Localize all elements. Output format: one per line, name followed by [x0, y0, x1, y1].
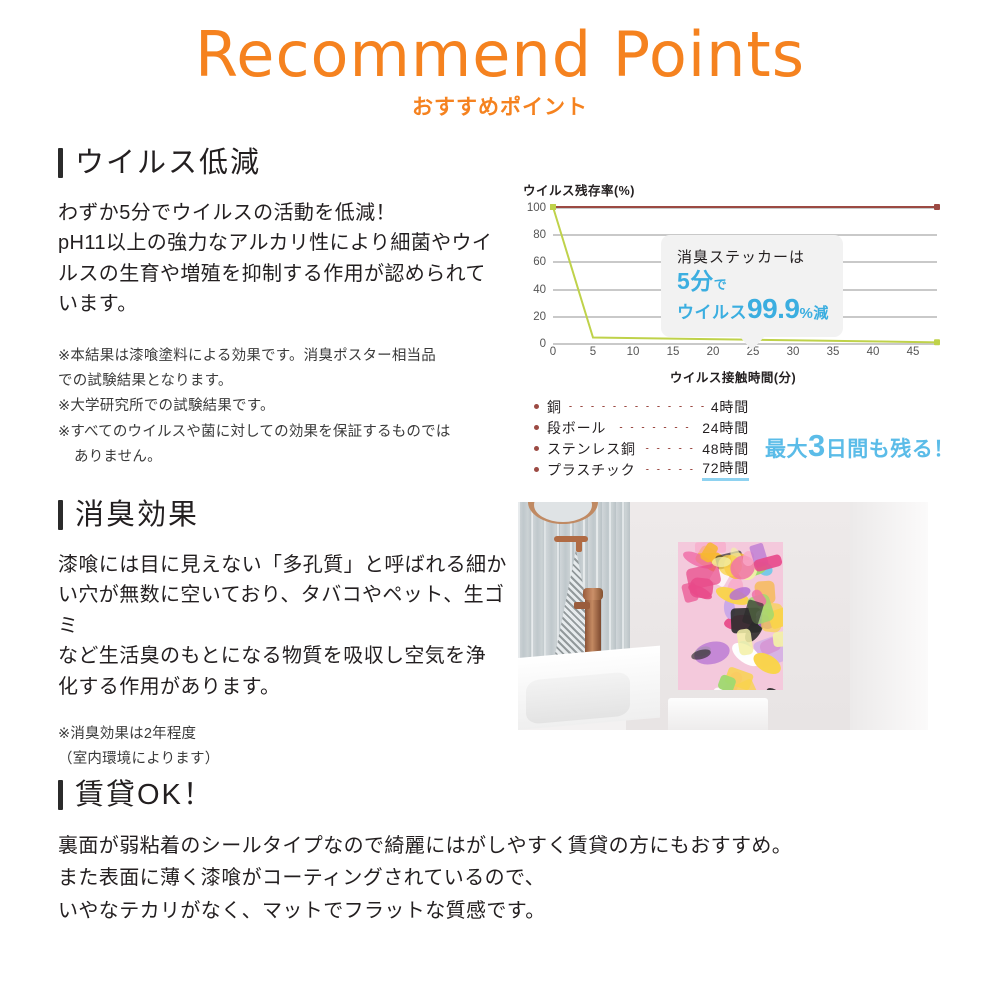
body-line: 裏面が弱粘着のシールタイプなので綺麗にはがしやすく賃貸の方にもおすすめ。 — [58, 830, 858, 862]
body-line: また表面に薄く漆喰がコーティングされているので、 — [58, 862, 858, 894]
section-notes: ※消臭効果は2年程度 （室内環境によります） — [58, 722, 518, 773]
body-line: い穴が無数に空いており、タバコやペット、生ゴミ — [58, 580, 518, 641]
chart-x-tick-label: 15 — [667, 346, 680, 358]
legend-dot-leader — [642, 467, 697, 472]
chart-x-tick-label: 40 — [867, 346, 880, 358]
chart-x-tick-label: 30 — [787, 346, 800, 358]
photo-towel-hook — [554, 536, 588, 542]
legend-dot-leader — [568, 404, 705, 409]
chart-data-point — [934, 204, 940, 210]
page-title: Recommend Points — [0, 22, 1000, 87]
max-days-prefix: 最大 — [765, 438, 808, 461]
section-title: 消臭効果 — [75, 501, 199, 530]
section-notes: ※本結果は漆喰塗料による効果です。消臭ポスター相当品 での試験結果となります。 … — [58, 344, 508, 471]
legend-duration-value: 48時間 — [702, 439, 749, 459]
note-line: ※すべてのウイルスや菌に対しての効果を保証するものでは — [58, 420, 508, 445]
callout-minutes: 5分 — [677, 268, 714, 294]
chart-x-tick-label: 10 — [627, 346, 640, 358]
photo-sticker-poster — [678, 542, 783, 690]
heading-bar-icon — [58, 780, 63, 810]
legend-bullet-icon — [534, 404, 539, 409]
section-heading: 賃貸OK！ — [58, 780, 858, 810]
chart-plot-area: 020406080100 消臭ステッカーは 5分で ウイルス99.9%減 — [553, 207, 937, 343]
callout-line-3: ウイルス99.9%減 — [677, 294, 829, 325]
body-line: います。 — [58, 289, 508, 319]
max-days-suffix: 日間も残る！ — [826, 438, 955, 461]
body-line: いやなテカリがなく、マットでフラットな質感です。 — [58, 895, 858, 927]
body-line: など生活臭のもとになる物質を吸収し空気を浄 — [58, 641, 518, 671]
section-rental-ok: 賃貸OK！ 裏面が弱粘着のシールタイプなので綺麗にはがしやすく賃貸の方にもおすす… — [58, 780, 858, 927]
note-line: ※消臭効果は2年程度 — [58, 722, 518, 747]
surface-survival-legend: 銅4時間段ボール24時間ステンレス銅48時間プラスチック72時間 — [534, 396, 749, 480]
chart-y-tick-label: 100 — [527, 202, 553, 214]
legend-material-name: プラスチック — [547, 460, 636, 480]
note-line: での試験結果となります。 — [58, 369, 508, 394]
section-title: ウイルス低減 — [75, 149, 261, 178]
section-heading: ウイルス低減 — [58, 148, 508, 178]
legend-material-name: 銅 — [547, 397, 562, 417]
chart-x-tick-label: 5 — [590, 346, 596, 358]
note-line: ※本結果は漆喰塗料による効果です。消臭ポスター相当品 — [58, 344, 508, 369]
section-body: 漆喰には目に見えない「多孔質」と呼ばれる細か い穴が無数に空いており、タバコやペ… — [58, 550, 518, 702]
bathroom-sticker-photo — [518, 502, 928, 730]
chart-y-axis-label: ウイルス残存率(%) — [523, 180, 943, 199]
note-line: （室内環境によります） — [58, 747, 518, 772]
legend-dot-leader — [612, 425, 696, 430]
callout-line-2: 5分で — [677, 269, 829, 294]
chart-x-tick-label: 45 — [907, 346, 920, 358]
legend-bullet-icon — [534, 425, 539, 430]
section-virus-reduction: ウイルス低減 わずか5分でウイルスの活動を低減！ pH11以上の強力なアルカリ性… — [58, 148, 508, 470]
legend-row: プラスチック72時間 — [534, 459, 749, 480]
legend-bullet-icon — [534, 446, 539, 451]
virus-survival-chart: ウイルス残存率(%) 020406080100 消臭ステッカーは 5分で ウイル… — [523, 180, 943, 386]
chart-x-tick-label: 20 — [707, 346, 720, 358]
callout-percent-sign: % — [800, 305, 814, 322]
legend-dot-leader — [642, 446, 696, 451]
callout-percent-value: 99.9 — [747, 293, 800, 324]
legend-duration-value: 24時間 — [702, 418, 749, 438]
legend-duration-value: 72時間 — [702, 458, 749, 481]
photo-towel-hook-post — [576, 536, 582, 552]
body-line: 化する作用があります。 — [58, 672, 518, 702]
note-line: ※大学研究所での試験結果です。 — [58, 394, 508, 419]
section-body: わずか5分でウイルスの活動を低減！ pH11以上の強力なアルカリ性により細菌やウ… — [58, 198, 508, 320]
section-title: 賃貸OK！ — [75, 781, 214, 810]
section-body: 裏面が弱粘着のシールタイプなので綺麗にはがしやすく賃貸の方にもおすすめ。 また表… — [58, 830, 858, 927]
page-subtitle: おすすめポイント — [0, 91, 1000, 121]
callout-reduce-label: 減 — [813, 305, 829, 322]
body-line: 漆喰には目に見えない「多孔質」と呼ばれる細か — [58, 550, 518, 580]
body-line: ルスの生育や増殖を抑制する作用が認められて — [58, 259, 508, 289]
max-days-number: 3 — [808, 428, 826, 463]
callout-line-1: 消臭ステッカーは — [677, 246, 829, 267]
body-line: pH11以上の強力なアルカリ性により細菌やウイ — [58, 228, 508, 258]
legend-material-name: 段ボール — [547, 418, 606, 438]
photo-faucet-spout — [583, 588, 603, 600]
legend-bullet-icon — [534, 467, 539, 472]
photo-toilet-tank — [668, 698, 768, 730]
legend-row: 段ボール24時間 — [534, 417, 749, 438]
section-deodorizing-effect: 消臭効果 漆喰には目に見えない「多孔質」と呼ばれる細か い穴が無数に空いており、… — [58, 500, 518, 773]
legend-row: ステンレス銅48時間 — [534, 438, 749, 459]
legend-row: 銅4時間 — [534, 396, 749, 417]
body-line: わずか5分でウイルスの活動を低減！ — [58, 198, 508, 228]
chart-data-point — [550, 204, 556, 210]
photo-wall-right — [850, 502, 928, 730]
photo-faucet-lever — [574, 602, 590, 609]
chart-y-tick-label: 80 — [533, 229, 553, 241]
max-days-callout: 最大3日間も残る！ — [765, 428, 955, 464]
chart-callout-bubble: 消臭ステッカーは 5分で ウイルス99.9%減 — [661, 235, 843, 337]
poster-sticker-shape — [765, 686, 781, 690]
callout-minutes-suffix: で — [714, 277, 728, 292]
callout-virus-label: ウイルス — [677, 303, 747, 322]
legend-material-name: ステンレス銅 — [547, 439, 636, 459]
chart-x-tick-label: 0 — [550, 346, 556, 358]
page-header: Recommend Points おすすめポイント — [0, 0, 1000, 121]
chart-y-tick-label: 60 — [533, 256, 553, 268]
legend-duration-value: 4時間 — [711, 397, 749, 417]
note-line: ありません。 — [58, 445, 508, 470]
heading-bar-icon — [58, 500, 63, 530]
photo-sink-basin — [526, 671, 630, 724]
chart-x-tick-label: 35 — [827, 346, 840, 358]
section-heading: 消臭効果 — [58, 500, 518, 530]
heading-bar-icon — [58, 148, 63, 178]
chart-x-axis-label: ウイルス接触時間(分) — [523, 367, 943, 386]
chart-y-tick-label: 40 — [533, 284, 553, 296]
chart-y-tick-label: 20 — [533, 311, 553, 323]
